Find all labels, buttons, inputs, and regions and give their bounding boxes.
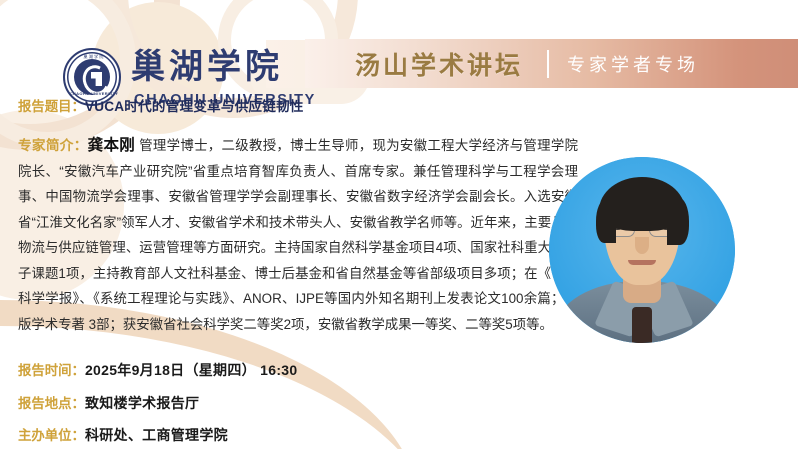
seal-emblem-icon (74, 59, 110, 95)
host-row: 主办单位：科研处、工商管理学院 (18, 425, 228, 447)
time-label: 报告时间： (18, 363, 85, 378)
time-row: 报告时间：2025年9月18日（星期四） 16:30 (18, 360, 297, 382)
host-value: 科研处、工商管理学院 (85, 427, 228, 443)
biography-text: 管理学博士，二级教授，博士生导师，现为安徽工程大学经济与管理学院院长、“安徽汽车… (18, 138, 578, 332)
banner-separator (547, 50, 549, 78)
place-value: 致知楼学术报告厅 (85, 395, 199, 411)
portrait-nose (635, 237, 649, 254)
place-row: 报告地点：致知楼学术报告厅 (18, 393, 199, 415)
speaker-portrait (549, 157, 735, 343)
portrait-tie (632, 307, 652, 343)
topic-label: 报告题目： (18, 99, 85, 114)
topic-value: VUCA时代的管理变革与供应链韧性 (85, 99, 304, 114)
portrait-mouth (628, 260, 656, 265)
biography-block: 专家简介：龚本刚 管理学博士，二级教授，博士生导师，现为安徽工程大学经济与管理学… (18, 133, 578, 337)
poster-canvas: 巢湖学院 CHAOHU UNIVERSITY 巢湖学院 CHAOHU UNIVE… (0, 0, 798, 449)
banner-title: 汤山学术讲坛 (355, 46, 523, 82)
host-label: 主办单位： (18, 428, 85, 443)
topic-row: 报告题目：VUCA时代的管理变革与供应链韧性 (18, 96, 638, 118)
decorative-fleck (551, 336, 561, 346)
speaker-name: 龚本刚 (88, 137, 136, 154)
time-value: 2025年9月18日（星期四） 16:30 (85, 362, 298, 378)
lecture-series-banner: 汤山学术讲坛 专家学者专场 (305, 39, 798, 88)
biography-paragraph: 专家简介：龚本刚 管理学博士，二级教授，博士生导师，现为安徽工程大学经济与管理学… (18, 133, 578, 337)
banner-subtitle: 专家学者专场 (567, 51, 699, 77)
place-label: 报告地点： (18, 396, 85, 411)
biography-label: 专家简介： (18, 138, 88, 153)
university-name-cn: 巢湖学院 (131, 50, 283, 84)
